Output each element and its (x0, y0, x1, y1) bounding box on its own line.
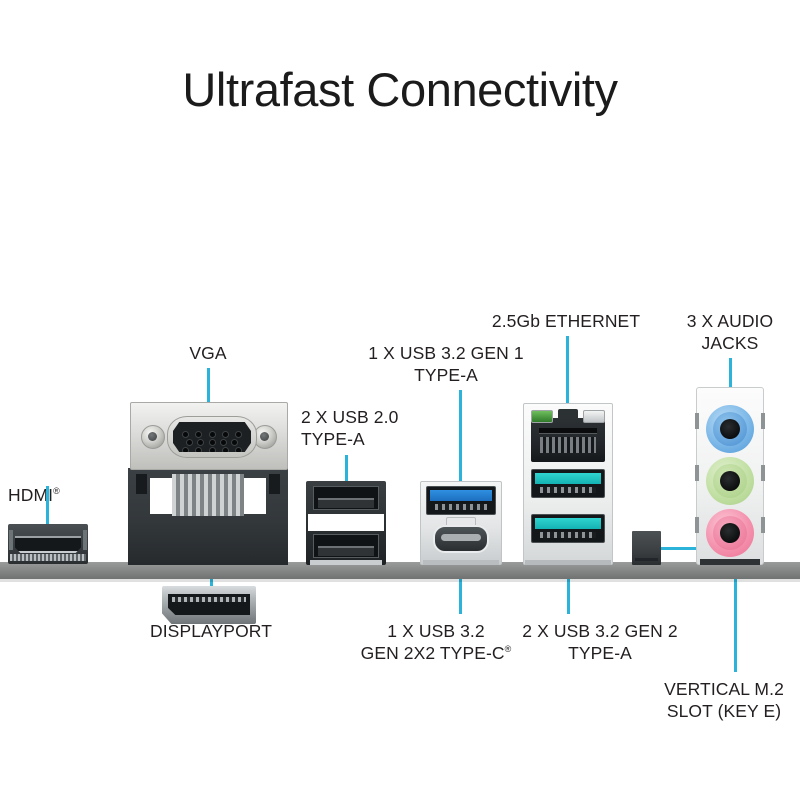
vga-metal-fins (172, 474, 244, 516)
vga-highlight-left (150, 478, 172, 514)
callout-label-usb32-gen2: 2 X USB 3.2 GEN 2 TYPE-A (505, 620, 695, 664)
usb20-foot (310, 560, 382, 565)
audio-jack-panel[interactable] (696, 387, 764, 565)
usb-teal-tongue-lower (535, 518, 601, 529)
callout-label-hdmi: HDMI® (8, 462, 128, 506)
vga-pin-row-3 (183, 448, 241, 453)
vga-module-body (128, 468, 288, 565)
usb-type-a-pins (435, 504, 487, 510)
rj45-fins (540, 437, 596, 453)
usb-2-0-type-a-stack[interactable] (306, 481, 386, 565)
audio-panel-slot-left-2 (695, 465, 699, 481)
baseplate-shadow (0, 579, 800, 582)
io-shield-baseplate (0, 562, 800, 579)
hdmi-port[interactable] (8, 524, 88, 564)
audio-jack-line-out[interactable] (706, 457, 754, 505)
ethernet-rj45-port[interactable] (531, 409, 605, 462)
callout-label-usb32-gen1: 1 X USB 3.2 GEN 1 TYPE-A (356, 342, 536, 386)
usb-type-c-tongue (441, 534, 481, 541)
callout-label-ethernet: 2.5Gb ETHERNET (470, 310, 662, 332)
audio-panel-slot-right-3 (761, 517, 765, 533)
vga-notch-right (269, 474, 280, 494)
hdmi-contact-lip (10, 554, 86, 561)
line-in-hole (720, 419, 740, 439)
usb-type-a-type-c-stack[interactable] (420, 481, 502, 565)
rj45-slot (539, 428, 597, 434)
usb20-port-upper[interactable] (313, 486, 379, 510)
callout-label-m2slot: VERTICAL M.2 SLOT (KEY E) (648, 678, 800, 722)
callout-label-usb20: 2 X USB 2.0 TYPE-A (301, 406, 441, 450)
usb-ac-foot (423, 560, 499, 565)
audio-panel-foot (700, 559, 760, 565)
displayport-pins (172, 597, 246, 602)
callout-text-typec: 1 X USB 3.2 GEN 2X2 TYPE-C (361, 621, 505, 663)
lan-stack-foot (525, 560, 611, 565)
usb-blue-tongue (430, 490, 492, 501)
ethernet-led-left (531, 410, 553, 423)
hdmi-opening (15, 536, 81, 553)
callout-label-vga: VGA (155, 342, 261, 364)
usb-teal-pins-lower (540, 532, 596, 538)
hdmi-registered-mark: ® (53, 486, 60, 496)
audio-panel-slot-right-1 (761, 413, 765, 429)
vga-port[interactable] (167, 416, 257, 458)
hdmi-tab-left (9, 530, 13, 550)
usb-3-2-gen2-type-a-port-upper[interactable] (531, 469, 605, 498)
usb-3-2-gen1-type-a-port[interactable] (426, 486, 496, 515)
usb-teal-pins-upper (540, 487, 596, 493)
callout-label-audio: 3 X AUDIO JACKS (662, 310, 798, 354)
vertical-m2-slot-module[interactable] (632, 531, 661, 565)
vga-highlight-right (244, 478, 266, 514)
displayport-port[interactable] (162, 586, 256, 624)
usb-3-2-gen2-type-a-port-lower[interactable] (531, 514, 605, 543)
vga-opening (173, 422, 251, 452)
vga-pin-row-2 (187, 440, 237, 445)
ethernet-usb-stack[interactable] (523, 403, 613, 565)
audio-panel-slot-right-2 (761, 465, 765, 481)
audio-panel-slot-left-3 (695, 517, 699, 533)
hdmi-tab-right (83, 530, 87, 550)
usb20-divider (308, 514, 384, 531)
audio-jack-microphone[interactable] (706, 509, 754, 557)
usb20-tongue-lower (318, 546, 374, 556)
audio-jack-line-in[interactable] (706, 405, 754, 453)
usb20-port-lower[interactable] (313, 534, 379, 558)
m2-slot-connector-line (635, 558, 658, 561)
usb20-tongue-upper (318, 498, 374, 508)
vga-displayport-module (128, 402, 288, 565)
vga-notch-left (136, 474, 147, 494)
vga-silver-plate (130, 402, 288, 470)
usb-3-2-gen2x2-type-c-port[interactable] (433, 525, 489, 553)
line-out-hole (720, 471, 740, 491)
vga-pin-row-1 (183, 432, 241, 437)
ethernet-led-right (583, 410, 605, 423)
vga-screw-post-left (141, 425, 165, 449)
io-panel-diagram: Ultrafast Connectivity HDMI® VGA 2 X USB… (0, 0, 800, 800)
page-title: Ultrafast Connectivity (0, 62, 800, 117)
usb-teal-tongue-upper (535, 473, 601, 484)
microphone-hole (720, 523, 740, 543)
audio-panel-slot-left-1 (695, 413, 699, 429)
